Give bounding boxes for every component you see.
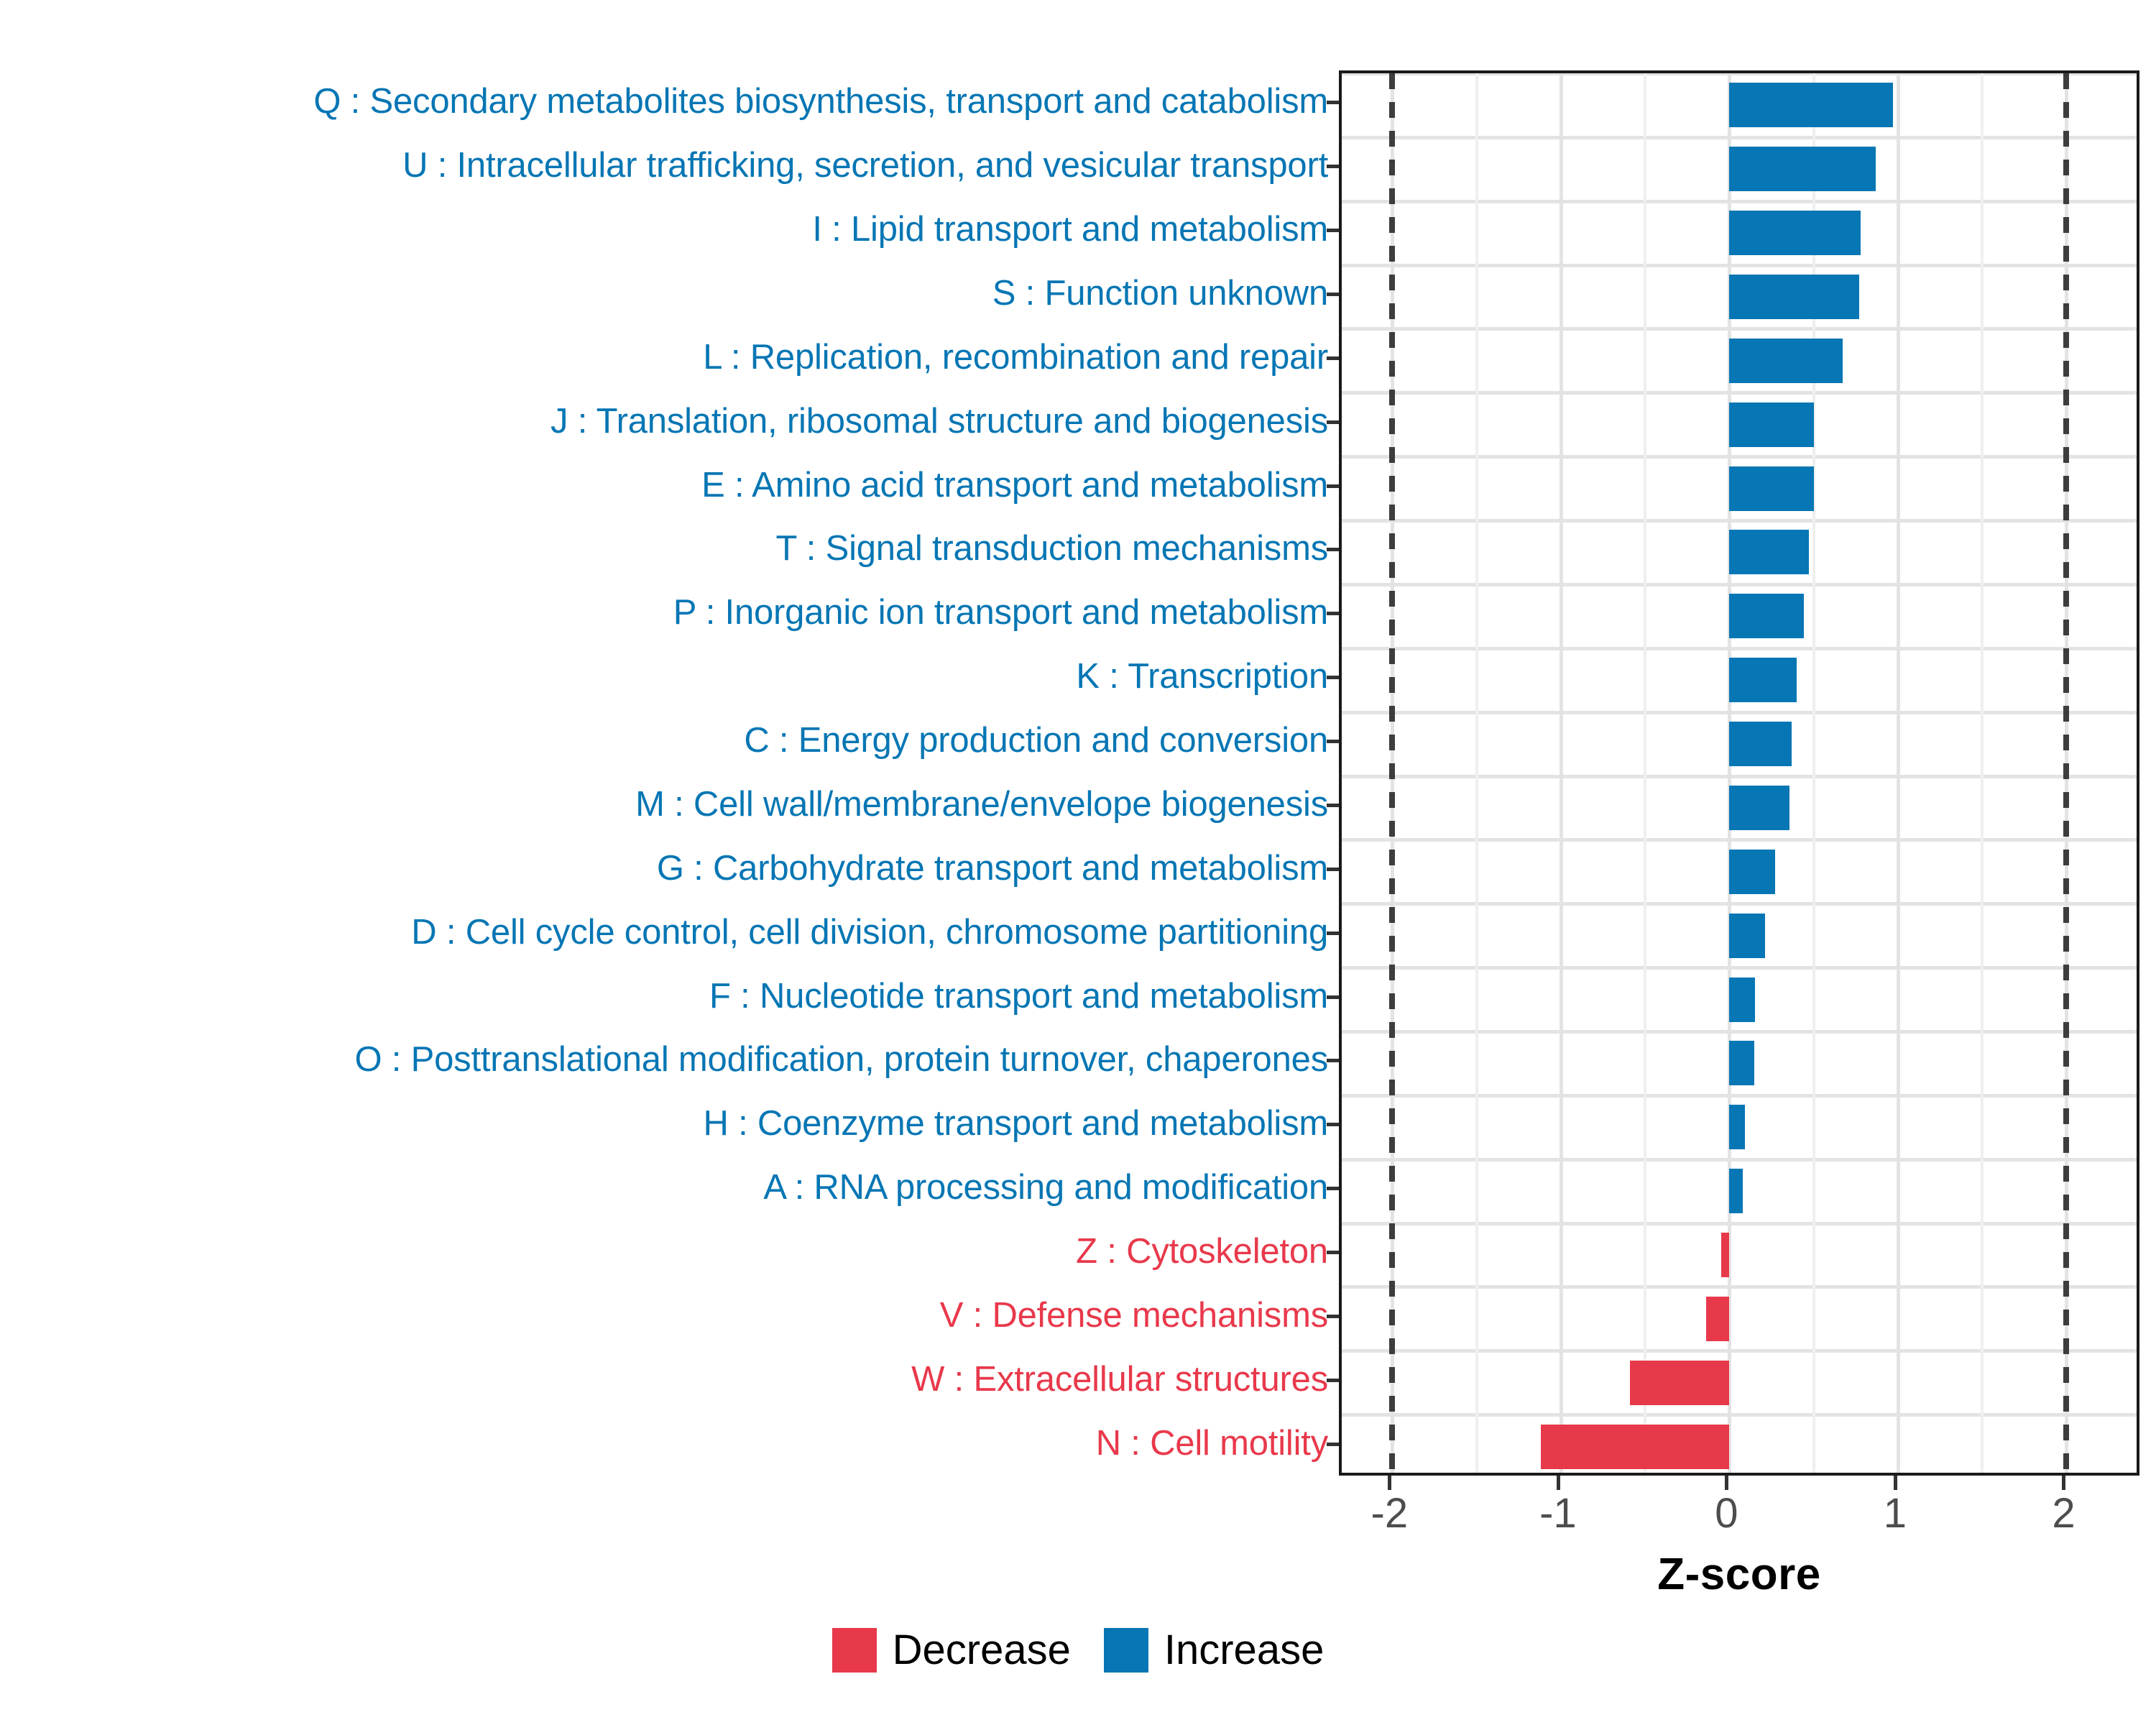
category-label: O : Posttranslational modification, prot… bbox=[0, 1042, 1328, 1077]
x-axis-tick-label: -1 bbox=[1501, 1493, 1616, 1535]
vertical-gridline-minor bbox=[1644, 73, 1646, 1473]
horizontal-gridline bbox=[1342, 264, 2137, 267]
vertical-gridline-minor bbox=[1981, 73, 1984, 1473]
plot-area bbox=[1342, 73, 2137, 1473]
category-label: S : Function unknown bbox=[0, 276, 1328, 311]
y-axis-tick bbox=[1327, 229, 1339, 232]
category-label: G : Carbohydrate transport and metabolis… bbox=[0, 851, 1328, 886]
bar[interactable] bbox=[1729, 530, 1808, 574]
y-axis-tick bbox=[1327, 1059, 1339, 1062]
x-axis-tick-label: 1 bbox=[1838, 1493, 1953, 1535]
bar[interactable] bbox=[1729, 786, 1789, 830]
y-axis-tick bbox=[1327, 484, 1339, 488]
category-label: T : Signal transduction mechanisms bbox=[0, 531, 1328, 566]
y-axis-labels: Q : Secondary metabolites biosynthesis, … bbox=[0, 70, 1328, 1476]
vertical-gridline-minor bbox=[1475, 73, 1478, 1473]
legend-item[interactable]: Decrease bbox=[832, 1628, 1071, 1673]
bar[interactable] bbox=[1729, 466, 1813, 511]
horizontal-gridline bbox=[1342, 1222, 2137, 1225]
category-label: J : Translation, ribosomal structure and… bbox=[0, 404, 1328, 439]
category-label: Z : Cytoskeleton bbox=[0, 1234, 1328, 1269]
category-label: F : Nucleotide transport and metabolism bbox=[0, 979, 1328, 1014]
category-label: C : Energy production and conversion bbox=[0, 723, 1328, 758]
threshold-line bbox=[1389, 73, 1395, 1473]
category-label: N : Cell motility bbox=[0, 1426, 1328, 1461]
y-axis-tick bbox=[1327, 1123, 1339, 1126]
bar[interactable] bbox=[1729, 1169, 1743, 1213]
y-axis-tick bbox=[1327, 868, 1339, 871]
y-axis-tick bbox=[1327, 740, 1339, 743]
category-label: M : Cell wall/membrane/envelope biogenes… bbox=[0, 787, 1328, 822]
bar[interactable] bbox=[1541, 1425, 1730, 1469]
horizontal-gridline bbox=[1342, 966, 2137, 970]
horizontal-gridline bbox=[1342, 902, 2137, 906]
category-label: A : RNA processing and modification bbox=[0, 1170, 1328, 1205]
y-axis-tick bbox=[1327, 420, 1339, 424]
horizontal-gridline bbox=[1342, 775, 2137, 778]
y-axis-tick bbox=[1327, 101, 1339, 104]
horizontal-gridline bbox=[1342, 455, 2137, 459]
bar[interactable] bbox=[1630, 1361, 1729, 1405]
y-axis-tick bbox=[1327, 356, 1339, 360]
bar[interactable] bbox=[1721, 1233, 1730, 1277]
y-axis-tick bbox=[1327, 165, 1339, 168]
bar[interactable] bbox=[1729, 594, 1803, 638]
horizontal-gridline bbox=[1342, 583, 2137, 586]
x-axis-tick-label: -2 bbox=[1332, 1493, 1447, 1535]
category-label: U : Intracellular trafficking, secretion… bbox=[0, 148, 1328, 183]
y-axis-tick bbox=[1327, 995, 1339, 999]
horizontal-gridline bbox=[1342, 1285, 2137, 1289]
vertical-gridline bbox=[1560, 73, 1563, 1473]
x-axis-tick bbox=[1725, 1476, 1728, 1490]
legend-swatch bbox=[1104, 1628, 1148, 1673]
x-axis-tick bbox=[1388, 1476, 1391, 1490]
y-axis-tick bbox=[1327, 612, 1339, 615]
legend-label: Increase bbox=[1164, 1629, 1324, 1671]
horizontal-gridline bbox=[1342, 1094, 2137, 1098]
category-label: Q : Secondary metabolites biosynthesis, … bbox=[0, 84, 1328, 119]
category-label: P : Inorganic ion transport and metaboli… bbox=[0, 595, 1328, 630]
bar[interactable] bbox=[1729, 977, 1754, 1022]
horizontal-gridline bbox=[1342, 136, 2137, 139]
bar[interactable] bbox=[1729, 850, 1774, 894]
category-label: D : Cell cycle control, cell division, c… bbox=[0, 915, 1328, 950]
horizontal-gridline bbox=[1342, 72, 2137, 75]
horizontal-gridline bbox=[1342, 711, 2137, 714]
horizontal-gridline bbox=[1342, 519, 2137, 523]
y-axis-tick bbox=[1327, 1315, 1339, 1318]
y-axis-tick bbox=[1327, 1379, 1339, 1382]
bar[interactable] bbox=[1729, 83, 1892, 127]
plot-panel bbox=[1339, 70, 2139, 1476]
y-axis-tick bbox=[1327, 1251, 1339, 1254]
y-axis-tick bbox=[1327, 1187, 1339, 1190]
bar[interactable] bbox=[1729, 1105, 1744, 1149]
legend-swatch bbox=[832, 1628, 877, 1673]
bar[interactable] bbox=[1729, 658, 1797, 702]
legend-label: Decrease bbox=[893, 1629, 1071, 1671]
y-axis-tick bbox=[1327, 1443, 1339, 1446]
bar[interactable] bbox=[1729, 402, 1813, 447]
category-label: E : Amino acid transport and metabolism bbox=[0, 468, 1328, 503]
bar[interactable] bbox=[1729, 1041, 1754, 1085]
category-label: I : Lipid transport and metabolism bbox=[0, 212, 1328, 247]
horizontal-gridline bbox=[1342, 391, 2137, 395]
horizontal-gridline bbox=[1342, 1030, 2137, 1034]
horizontal-gridline bbox=[1342, 200, 2137, 203]
chart-root: Q : Secondary metabolites biosynthesis, … bbox=[0, 0, 2156, 1725]
bar[interactable] bbox=[1729, 211, 1861, 255]
x-axis-tick-label: 2 bbox=[2006, 1493, 2121, 1535]
legend-item[interactable]: Increase bbox=[1104, 1628, 1324, 1673]
horizontal-gridline bbox=[1342, 327, 2137, 331]
x-axis-tick bbox=[1557, 1476, 1560, 1490]
bar[interactable] bbox=[1729, 339, 1842, 383]
horizontal-gridline bbox=[1342, 838, 2137, 842]
y-axis-tick bbox=[1327, 676, 1339, 679]
x-axis-tick bbox=[1894, 1476, 1897, 1490]
horizontal-gridline bbox=[1342, 647, 2137, 650]
category-label: L : Replication, recombination and repai… bbox=[0, 340, 1328, 375]
threshold-line bbox=[2063, 73, 2069, 1473]
category-label: H : Coenzyme transport and metabolism bbox=[0, 1106, 1328, 1141]
category-label: V : Defense mechanisms bbox=[0, 1298, 1328, 1333]
category-label: K : Transcription bbox=[0, 659, 1328, 694]
bar[interactable] bbox=[1729, 275, 1859, 319]
y-axis-tick bbox=[1327, 548, 1339, 551]
bar[interactable] bbox=[1729, 914, 1764, 958]
bar[interactable] bbox=[1729, 147, 1876, 191]
bar[interactable] bbox=[1729, 722, 1792, 766]
x-axis-title: Z-score bbox=[1339, 1549, 2139, 1600]
chart-legend: DecreaseIncrease bbox=[0, 1628, 2156, 1673]
horizontal-gridline bbox=[1342, 1413, 2137, 1417]
x-axis-tick-label: 0 bbox=[1669, 1493, 1784, 1535]
x-axis-tick bbox=[2062, 1476, 2065, 1490]
y-axis-tick bbox=[1327, 293, 1339, 296]
category-label: W : Extracellular structures bbox=[0, 1362, 1328, 1397]
horizontal-gridline bbox=[1342, 1349, 2137, 1353]
y-axis-tick bbox=[1327, 931, 1339, 935]
horizontal-gridline bbox=[1342, 1158, 2137, 1161]
bar[interactable] bbox=[1706, 1297, 1730, 1341]
vertical-gridline bbox=[1897, 73, 1900, 1473]
y-axis-tick bbox=[1327, 804, 1339, 807]
